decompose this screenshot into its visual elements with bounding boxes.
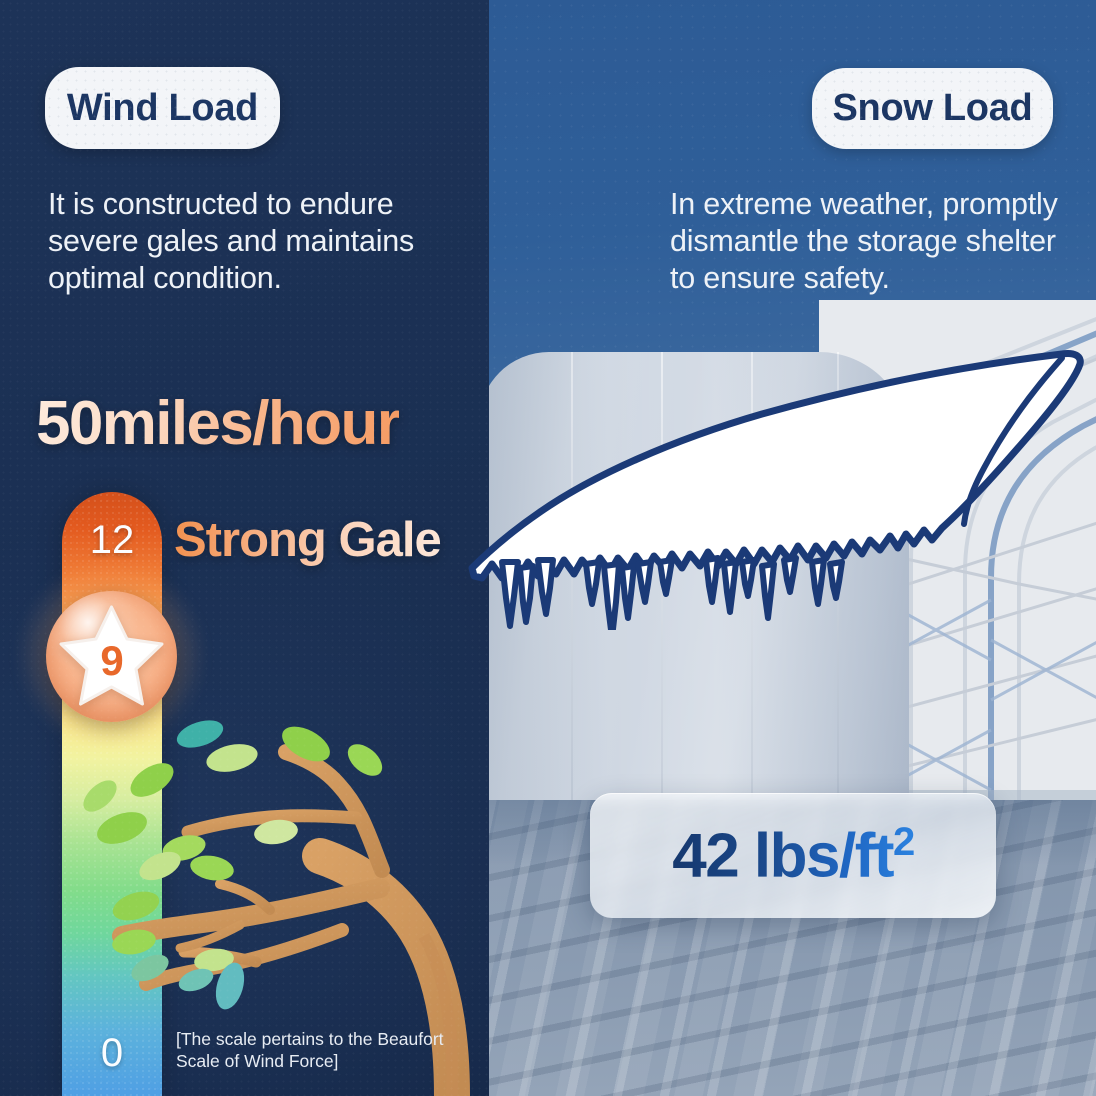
snow-load-value-panel: 42 lbs/ft2: [590, 793, 996, 918]
wind-load-description: It is constructed to endure severe gales…: [48, 186, 438, 297]
snow-load-title-pill: Snow Load: [812, 68, 1053, 149]
infographic-root: 12 0: [0, 0, 1096, 1096]
wind-rating-label: Strong Gale: [174, 512, 441, 568]
wind-speed-headline: 50miles/hour: [36, 388, 399, 459]
beaufort-level-badge: 9: [46, 591, 177, 722]
snow-load-title-text: Snow Load: [833, 87, 1033, 130]
snow-load-description: In extreme weather, promptly dismantle t…: [670, 186, 1062, 297]
badge-value-label: 9: [100, 637, 122, 685]
scale-max-label: 12: [62, 518, 162, 563]
beaufort-footnote: [The scale pertains to the Beaufort Scal…: [176, 1028, 446, 1072]
snow-load-value: 42 lbs/ft2: [672, 820, 914, 892]
snow-load-value-number: 42 lbs/ft: [672, 821, 893, 890]
wind-load-title-pill: Wind Load: [45, 67, 280, 149]
wind-load-panel: 12 0: [0, 0, 489, 1096]
wind-load-title-text: Wind Load: [67, 87, 258, 130]
snow-load-value-exponent: 2: [893, 820, 914, 864]
snow-accumulation-illustration: [462, 330, 1096, 630]
